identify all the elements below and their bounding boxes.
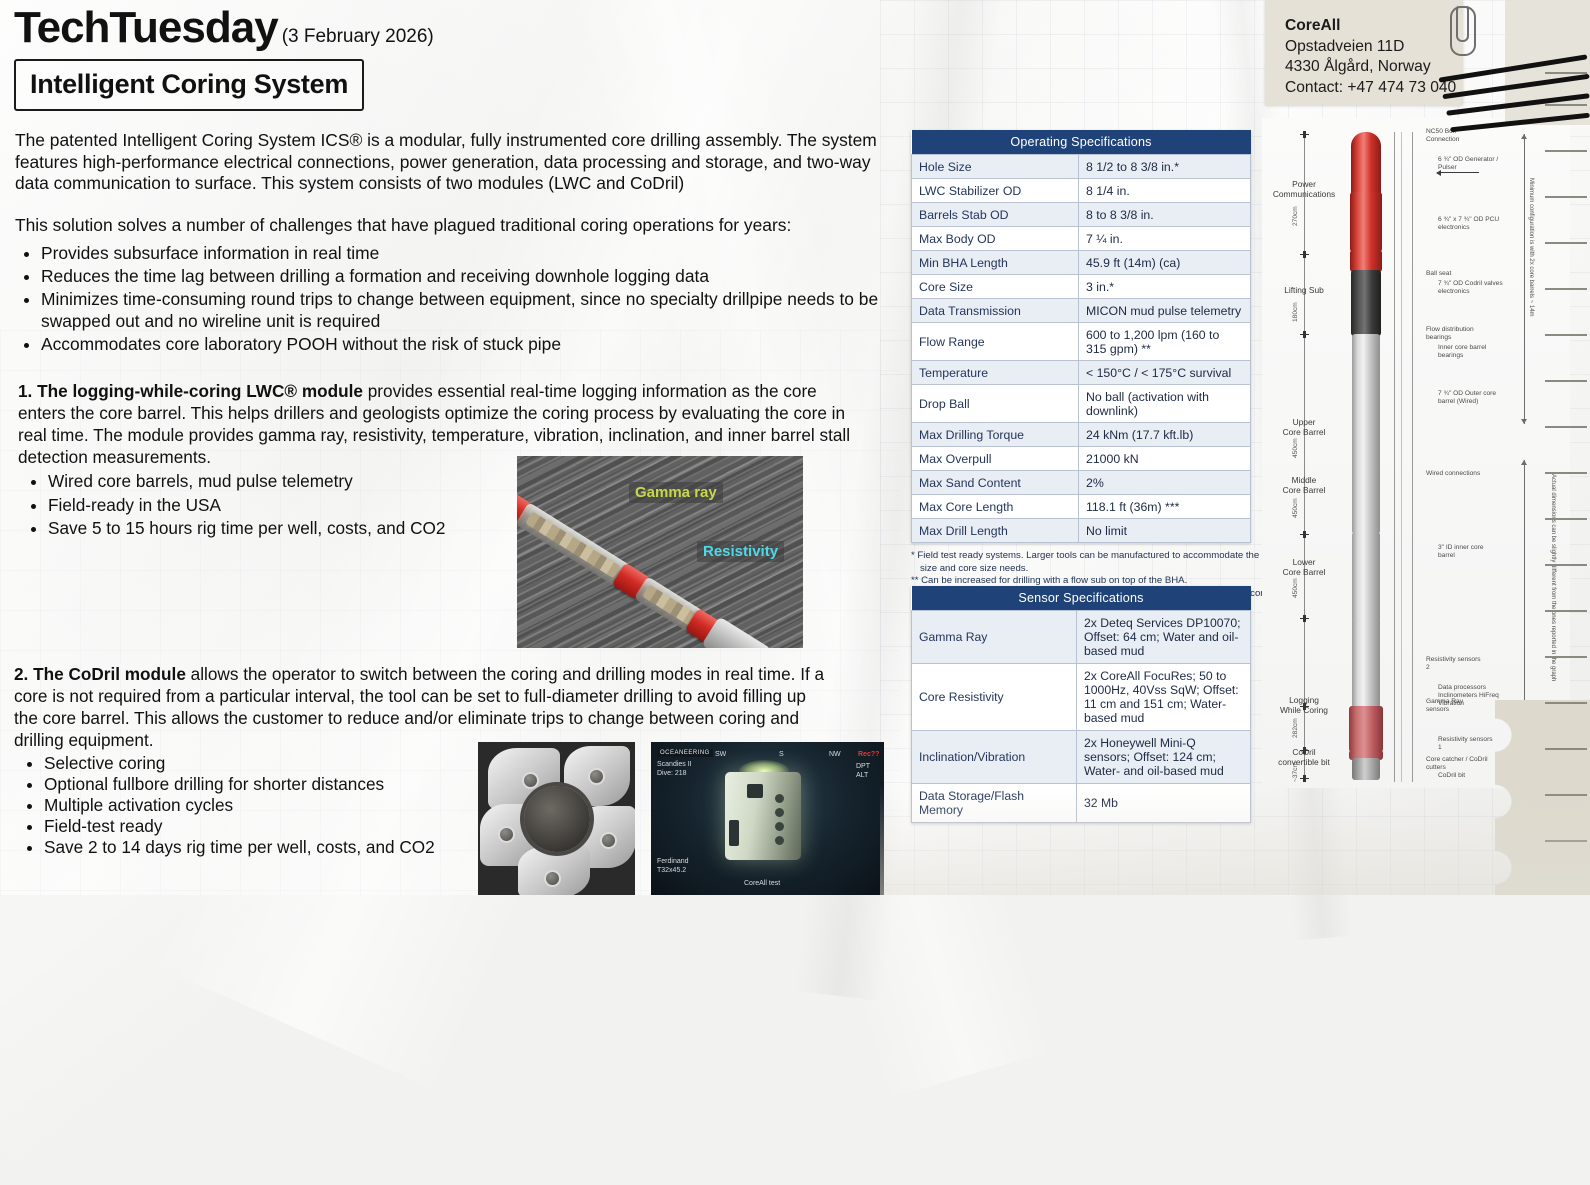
drawing-label-codril-convertible-bit: CoDrilconvertible bit [1262,748,1346,768]
drawing-label-middle-core-barrel: MiddleCore Barrel [1262,476,1346,496]
operating-specs-table: Operating Specifications Hole Size8 1/2 … [911,130,1251,543]
address-text: CoreAll Opstadveien 11D 4330 Ålgård, Nor… [1285,16,1456,98]
stamp-perforation [1545,518,1587,520]
sensor-key: Gamma Ray [912,611,1077,664]
table-row: Flow Range600 to 1,200 lpm (160 to 315 g… [912,323,1251,361]
lifting-sub-body [1351,270,1381,336]
callout-core-catcher-cutters: Core catcher / CoDril cutters [1426,756,1488,772]
lwc-lead: 1. The logging-while-coring LWC® module [18,381,363,401]
spec-value: 24 kNm (17.7 kft.lb) [1079,423,1251,447]
dimension-tick [1300,778,1309,779]
generator-pulser-body [1351,132,1381,194]
stamp-perforation [1545,334,1587,336]
table-row: Max Drill LengthNo limit [912,519,1251,543]
stamp-perforation [1545,472,1587,474]
footnote: size and core size needs. [911,563,1251,576]
spec-value: 8 1/2 to 8 3/8 in.* [1079,155,1251,179]
address-contact: Contact: +47 474 73 040 [1285,78,1456,99]
lower-core-barrel [1352,618,1380,708]
spec-value: 118.1 ft (36m) *** [1079,495,1251,519]
stamp-perforation [1545,288,1587,290]
dimension-tick [1300,334,1309,335]
spec-key: Hole Size [912,155,1079,179]
drawing-dim-450cm-middle: 450cm [1292,466,1299,518]
drawing-dim-270cm: 270cm [1292,166,1299,226]
rov-port [775,794,784,803]
schematic-inner-bore [1401,132,1402,782]
spec-value: 7 ¼ in. [1079,227,1251,251]
table-row: Data TransmissionMICON mud pulse telemet… [912,299,1251,323]
bit-cutter [588,768,605,785]
table-row: LWC Stabilizer OD8 1/4 in. [912,179,1251,203]
bit-cutter [600,832,617,849]
upper-core-barrel [1352,334,1380,534]
lwc-logging-section [1349,706,1383,752]
dimension-tick [1300,618,1309,619]
callout-resistivity-sensors-2: Resistivity sensors 2 [1426,656,1484,672]
spec-key: Data Transmission [912,299,1079,323]
sensor-specs-title: Sensor Specifications [912,586,1251,611]
drawing-label-lower-core-barrel: LowerCore Barrel [1262,558,1346,578]
rov-vessel-label: Scandies II [657,761,692,770]
spec-key: Core Size [912,275,1079,299]
stamp-perforation [1545,564,1587,566]
callout-gamma-ray-sensors: Gamma Ray sensors [1426,698,1484,714]
intro-paragraph-2: This solution solves a number of challen… [15,215,895,237]
stamp-perforation [1545,150,1587,152]
stamp-perforation [1545,426,1587,428]
list-item: Accommodates core laboratory POOH withou… [41,333,895,356]
table-row: Max Sand Content2% [912,471,1251,495]
spec-key: Max Drill Length [912,519,1079,543]
table-row: Max Core Length118.1 ft (36m) *** [912,495,1251,519]
rov-panel [729,820,739,846]
callout-flow-distribution-bearings: Flow distribution bearings [1426,326,1492,342]
dimension-tick [1300,134,1309,135]
operating-specs-body: Hole Size8 1/2 to 8 3/8 in.* LWC Stabili… [912,155,1251,543]
drawing-label-power-communications: PowerCommunications [1262,180,1346,200]
poster-header: TechTuesday(3 February 2026) Intelligent… [14,6,434,111]
stamp-perforation [1545,748,1587,750]
spec-value: MICON mud pulse telemetry [1079,299,1251,323]
spec-value: 8 to 8 3/8 in. [1079,203,1251,227]
table-row: Max Body OD7 ¼ in. [912,227,1251,251]
drawing-label-lifting-sub: Lifting Sub [1262,286,1346,296]
stamp-perforation [1545,702,1587,704]
spec-value: 3 in.* [1079,275,1251,299]
spec-key: Barrels Stab OD [912,203,1079,227]
address-street: Opstadveien 11D [1285,37,1456,58]
drawing-label-upper-core-barrel: UpperCore Barrel [1262,418,1346,438]
rov-equipment [725,772,801,860]
intro-section: The patented Intelligent Coring System I… [15,130,895,356]
spec-key: Flow Range [912,323,1079,361]
sensor-value: 2x Honeywell Mini-Q sensors; Offset: 124… [1077,731,1251,784]
sidenote-minimum-configuration: Minimum configuration is with 2x core ba… [1528,178,1534,408]
rov-caption-left-2: T32x45.2 [657,867,686,876]
stamp-perforation [1545,242,1587,244]
drawing-dim-450cm-upper: 450cm [1292,406,1299,458]
gamma-ray-label: Gamma ray [629,482,723,503]
sensor-key: Core Resistivity [912,664,1077,731]
rov-panel [747,784,763,798]
bha-technical-drawing: PowerCommunications 270cm Lifting Sub 18… [1262,118,1570,788]
table-row: Max Drilling Torque24 kNm (17.7 kft.lb) [912,423,1251,447]
bottom-paper-shade [880,785,1590,895]
drawing-label-logging-while-coring: LoggingWhile Coring [1262,696,1346,716]
footnote: * Field test ready systems. Larger tools… [911,550,1251,563]
table-row: Inclination/Vibration2x Honeywell Mini-Q… [912,731,1251,784]
rov-port [775,822,784,831]
pcu-electronics-body [1350,192,1382,252]
subtitle-box: Intelligent Coring System [14,59,364,111]
rov-dive-label: Dive: 218 [657,770,687,779]
callout-generator-pulser: 6 ¾" OD Generator / Pulser [1438,156,1504,172]
operating-specifications: Operating Specifications Hole Size8 1/2 … [911,130,1251,600]
schematic-outline [1412,132,1413,782]
bit-hub [524,786,590,852]
rov-port [775,808,784,817]
spec-value: 8 1/4 in. [1079,179,1251,203]
address-city: 4330 Ålgård, Norway [1285,57,1456,78]
spec-key: Max Drilling Torque [912,423,1079,447]
rov-heading-s: S [779,751,784,760]
intro-paragraph-1: The patented Intelligent Coring System I… [15,130,895,195]
list-item: Reduces the time lag between drilling a … [41,265,895,288]
spec-key: Max Body OD [912,227,1079,251]
spec-key: LWC Stabilizer OD [912,179,1079,203]
stamp-perforation [1545,72,1587,74]
stamp-perforation [1545,104,1587,106]
table-row: Drop BallNo ball (activation with downli… [912,385,1251,423]
rov-operator-tag: OCEANEERING [657,749,713,757]
codril-paragraph: 2. The CoDril module allows the operator… [14,663,834,751]
callout-codril-valves-electronics: 7 ¾" OD Codril valves electronics [1438,280,1506,296]
spec-value: 21000 kN [1079,447,1251,471]
spec-value: 600 to 1,200 lpm (160 to 315 gpm) ** [1079,323,1251,361]
stamp-perforation [1545,196,1587,198]
list-item: Provides subsurface information in real … [41,242,895,265]
table-row: Gamma Ray2x Deteq Services DP10070; Offs… [912,611,1251,664]
lwc-paragraph: 1. The logging-while-coring LWC® module … [18,380,868,468]
codril-bit-body [1352,758,1380,780]
spec-value: 45.9 ft (14m) (ca) [1079,251,1251,275]
callout-wired-connections: Wired connections [1426,470,1488,478]
spec-key: Temperature [912,361,1079,385]
rov-rec-indicator: Rec?? [858,751,879,760]
spec-value: < 150°C / < 175°C survival [1079,361,1251,385]
spec-key: Min BHA Length [912,251,1079,275]
rov-subsea-photo: OCEANEERING Scandies II Dive: 218 SW S N… [651,742,884,895]
spec-value: 2% [1079,471,1251,495]
callout-pcu-electronics: 6 ¾" x 7 ¾" OD PCU electronics [1438,216,1508,232]
sensor-key: Inclination/Vibration [912,731,1077,784]
table-row: Max Overpull21000 kN [912,447,1251,471]
rov-caption-center: CoreAll test [744,880,780,889]
spec-key: Max Overpull [912,447,1079,471]
rov-altitude-label: ALT [856,772,868,781]
page-date: (3 February 2026) [282,26,434,48]
spec-key: Max Core Length [912,495,1079,519]
dimension-tick [1300,534,1309,535]
rov-caption-left: Ferdinand [657,858,689,867]
page-subtitle: Intelligent Coring System [30,69,348,99]
stamp-perforation [1545,610,1587,612]
codril-valve-body [1350,250,1382,272]
table-row: Barrels Stab OD8 to 8 3/8 in. [912,203,1251,227]
dimension-tick [1300,254,1309,255]
callout-ball-seat: Ball seat [1426,270,1476,278]
sensor-value: 2x CoreAll FocuRes; 50 to 1000Hz, 40Vss … [1077,664,1251,731]
callout-outer-core-barrel-wired: 7 ¾" OD Outer core barrel (Wired) [1438,390,1508,406]
stamp-perforation [1545,656,1587,658]
operating-specs-title: Operating Specifications [912,130,1251,155]
table-row: Hole Size8 1/2 to 8 3/8 in.* [912,155,1251,179]
codril-lead: 2. The CoDril module [14,664,186,684]
spec-value: No ball (activation with downlink) [1079,385,1251,423]
spec-key: Drop Ball [912,385,1079,423]
drawing-dim-37cm: ~37cm [1292,742,1299,782]
spec-key: Max Sand Content [912,471,1079,495]
paperclip-icon [1450,6,1476,56]
callout-inner-core-barrel-id: 3" ID inner core barrel [1438,544,1500,560]
table-row: Core Resistivity2x CoreAll FocuRes; 50 t… [912,664,1251,731]
pdc-bit-photo [478,742,635,895]
dimension-axis [1304,132,1305,782]
drawing-dim-450cm-lower: 450cm [1292,546,1299,598]
middle-core-barrel [1352,532,1380,622]
drawing-dim-180cm: 180cm [1292,270,1299,322]
bit-cutter [498,826,515,843]
list-item: Minimizes time-consuming round trips to … [41,288,895,333]
bit-cutter [544,870,561,887]
lwc-tool-photo: Gamma ray Resistivity [517,456,803,648]
company-name: CoreAll [1285,16,1456,37]
bit-cutter [522,772,539,789]
resistivity-label: Resistivity [697,541,784,562]
table-row: Temperature< 150°C / < 175°C survival [912,361,1251,385]
drawing-dim-282cm: 282cm [1292,686,1299,738]
page-title: TechTuesday [14,6,278,50]
callout-codril-bit: CoDril bit [1438,772,1488,780]
rov-heading-sw: SW [715,751,726,760]
callout-inner-core-barrel-bearings: Inner core barrel bearings [1438,344,1504,360]
table-row: Min BHA Length45.9 ft (14m) (ca) [912,251,1251,275]
spec-value: No limit [1079,519,1251,543]
intro-bullet-list: Provides subsurface information in real … [15,242,895,356]
schematic-outline [1394,132,1395,782]
stamp-perforation [1545,380,1587,382]
rov-port [775,836,784,845]
rov-depth-label: DPT [856,763,870,772]
sensor-value: 2x Deteq Services DP10070; Offset: 64 cm… [1077,611,1251,664]
table-row: Core Size3 in.* [912,275,1251,299]
rov-heading-nw: NW [829,751,841,760]
callout-resistivity-sensors-1: Resistivity sensors 1 [1438,736,1496,752]
bha-length-scalebar [1524,134,1525,424]
callout-leader [1437,172,1479,173]
